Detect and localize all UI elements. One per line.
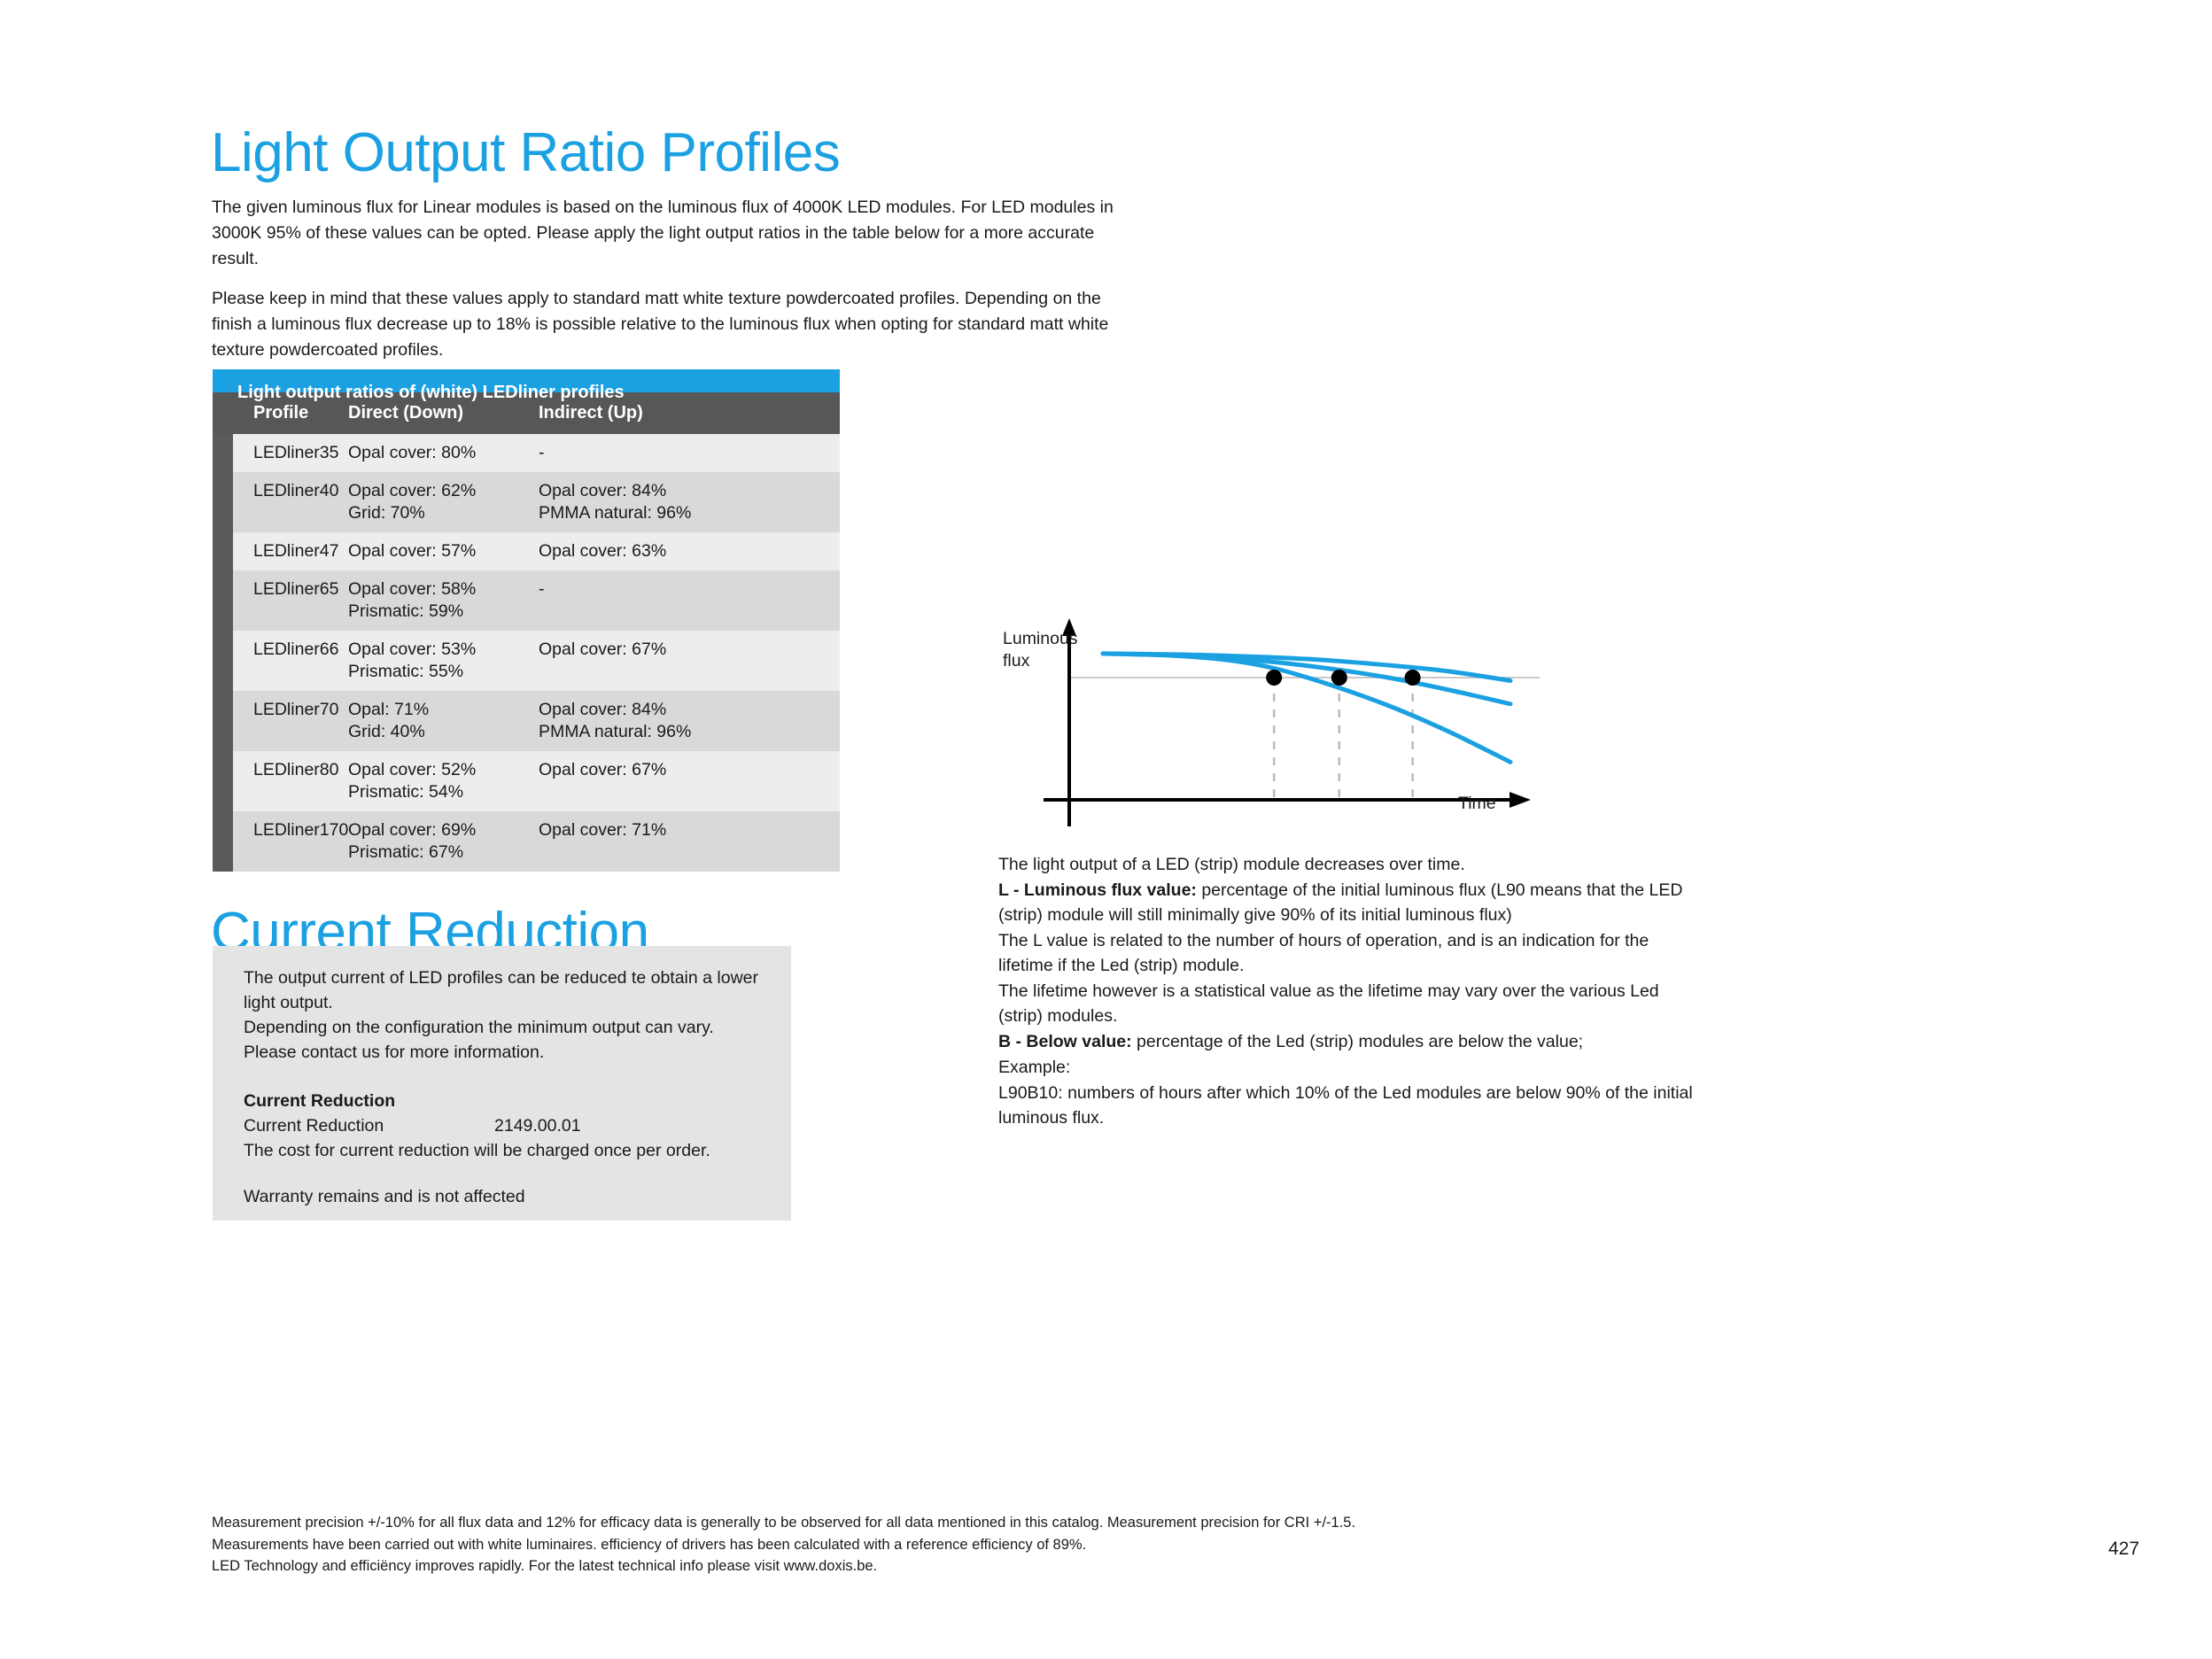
cell-indirect: Opal cover: 71% (539, 819, 840, 841)
explanation-term: L - Luminous flux value: (998, 880, 1197, 900)
cell-line: Opal cover: 57% (348, 540, 539, 562)
cell-indirect: - (539, 578, 840, 601)
cell-line: Prismatic: 59% (348, 601, 539, 623)
cell-direct: Opal cover: 69%Prismatic: 67% (348, 819, 539, 864)
current-reduction-cost-note: The cost for current reduction will be c… (244, 1138, 766, 1163)
light-output-ratio-table: Light output ratios of (white) LEDliner … (213, 369, 840, 872)
cell-line: Opal cover: 67% (539, 759, 840, 781)
page-title-light-output-ratio-profiles: Light Output Ratio Profiles (211, 121, 840, 184)
cell-profile: LEDliner35 (233, 442, 348, 464)
current-reduction-warranty-note: Warranty remains and is not affected (244, 1184, 766, 1209)
cell-direct: Opal cover: 53%Prismatic: 55% (348, 639, 539, 683)
table-row: LEDliner47Opal cover: 57%Opal cover: 63% (233, 532, 840, 570)
cell-line: Opal cover: 53% (348, 639, 539, 661)
column-header-indirect: Indirect (Up) (539, 403, 840, 423)
cell-profile: LEDliner65 (233, 578, 348, 601)
cell-direct: Opal cover: 80% (348, 442, 539, 464)
current-reduction-panel: The output current of LED profiles can b… (213, 946, 791, 1221)
cell-line: Opal cover: 80% (348, 442, 539, 464)
cell-line: Opal cover: 84% (539, 699, 840, 721)
cell-direct: Opal cover: 52%Prismatic: 54% (348, 759, 539, 803)
table-row: LEDliner40Opal cover: 62%Grid: 70%Opal c… (233, 472, 840, 532)
lumen-maintenance-example-block: Example:L90B10: numbers of hours after w… (998, 1055, 1707, 1131)
cell-direct: Opal cover: 62%Grid: 70% (348, 480, 539, 524)
current-reduction-code-value: 2149.00.01 (494, 1113, 760, 1138)
footer-line-3: LED Technology and efficiëncy improves r… (212, 1555, 1718, 1578)
luminous-flux-over-time-chart: Luminous flux Time (992, 611, 1559, 841)
explanation-line: L - Luminous flux value: percentage of t… (998, 878, 1707, 928)
table-caption: Light output ratios of (white) LEDliner … (213, 369, 840, 392)
explanation-term: B - Below value: (998, 1032, 1132, 1051)
cell-line: PMMA natural: 96% (539, 502, 840, 524)
explanation-line: L90B10: numbers of hours after which 10%… (998, 1081, 1707, 1131)
table-row: LEDliner66Opal cover: 53%Prismatic: 55%O… (233, 631, 840, 691)
cell-line: Opal cover: 67% (539, 639, 840, 661)
x-axis-arrow-icon (1510, 792, 1531, 808)
intro-paragraph-1: The given luminous flux for Linear modul… (212, 195, 1124, 272)
footer-line-2: Measurements have been carried out with … (212, 1534, 1718, 1556)
cell-line: Grid: 70% (348, 502, 539, 524)
cell-line: Prismatic: 55% (348, 661, 539, 683)
lumen-maintenance-explanation-block: The light output of a LED (strip) module… (998, 852, 1707, 1054)
chart-marker (1405, 670, 1421, 686)
cell-line: - (539, 442, 840, 464)
cell-profile: LEDliner40 (233, 480, 348, 502)
cell-indirect: - (539, 442, 840, 464)
cell-indirect: Opal cover: 67% (539, 759, 840, 781)
explanation-line: The L value is related to the number of … (998, 928, 1707, 979)
cell-line: Prismatic: 67% (348, 841, 539, 864)
explanation-line: The light output of a LED (strip) module… (998, 852, 1707, 878)
table-row: LEDliner170Opal cover: 69%Prismatic: 67%… (233, 811, 840, 872)
explanation-line: The lifetime however is a statistical va… (998, 979, 1707, 1029)
intro-paragraph-2: Please keep in mind that these values ap… (212, 286, 1133, 363)
page-number: 427 (2108, 1539, 2139, 1560)
cell-line: Opal cover: 58% (348, 578, 539, 601)
cell-direct: Opal cover: 57% (348, 540, 539, 562)
cell-line: Opal: 71% (348, 699, 539, 721)
cell-line: Opal cover: 84% (539, 480, 840, 502)
explanation-line: Example: (998, 1055, 1707, 1081)
cell-line: Prismatic: 54% (348, 781, 539, 803)
cell-line: Opal cover: 63% (539, 540, 840, 562)
chart-y-axis-label: Luminous flux (1003, 628, 1078, 672)
chart-x-axis-label: Time (1458, 793, 1496, 815)
column-header-direct: Direct (Down) (348, 403, 539, 423)
footer-line-1: Measurement precision +/-10% for all flu… (212, 1512, 1718, 1534)
cell-indirect: Opal cover: 63% (539, 540, 840, 562)
chart-marker (1331, 670, 1347, 686)
cell-indirect: Opal cover: 84%PMMA natural: 96% (539, 480, 840, 524)
column-header-profile: Profile (233, 403, 348, 423)
chart-marker (1266, 670, 1282, 686)
cell-line: Grid: 40% (348, 721, 539, 743)
cell-line: Opal cover: 62% (348, 480, 539, 502)
cell-profile: LEDliner170 (233, 819, 348, 841)
current-reduction-subheading: Current Reduction (244, 1089, 766, 1113)
cell-line: Opal cover: 52% (348, 759, 539, 781)
cell-direct: Opal cover: 58%Prismatic: 59% (348, 578, 539, 623)
table-row: LEDliner70Opal: 71%Grid: 40%Opal cover: … (233, 691, 840, 751)
table-row: LEDliner35Opal cover: 80%- (233, 434, 840, 472)
cell-profile: LEDliner66 (233, 639, 348, 661)
cell-direct: Opal: 71%Grid: 40% (348, 699, 539, 743)
footer-disclaimer: Measurement precision +/-10% for all flu… (212, 1512, 1718, 1578)
cell-line: Opal cover: 71% (539, 819, 840, 841)
cell-line: Opal cover: 69% (348, 819, 539, 841)
table-body: LEDliner35Opal cover: 80%-LEDliner40Opal… (213, 434, 840, 872)
cell-line: PMMA natural: 96% (539, 721, 840, 743)
explanation-line: B - Below value: percentage of the Led (… (998, 1029, 1707, 1055)
table-row: LEDliner80Opal cover: 52%Prismatic: 54%O… (233, 751, 840, 811)
current-reduction-description: The output current of LED profiles can b… (244, 965, 766, 1065)
cell-line: - (539, 578, 840, 601)
cell-profile: LEDliner80 (233, 759, 348, 781)
cell-profile: LEDliner70 (233, 699, 348, 721)
cell-profile: LEDliner47 (233, 540, 348, 562)
table-row: LEDliner65Opal cover: 58%Prismatic: 59%- (233, 570, 840, 631)
cell-indirect: Opal cover: 84%PMMA natural: 96% (539, 699, 840, 743)
cell-indirect: Opal cover: 67% (539, 639, 840, 661)
